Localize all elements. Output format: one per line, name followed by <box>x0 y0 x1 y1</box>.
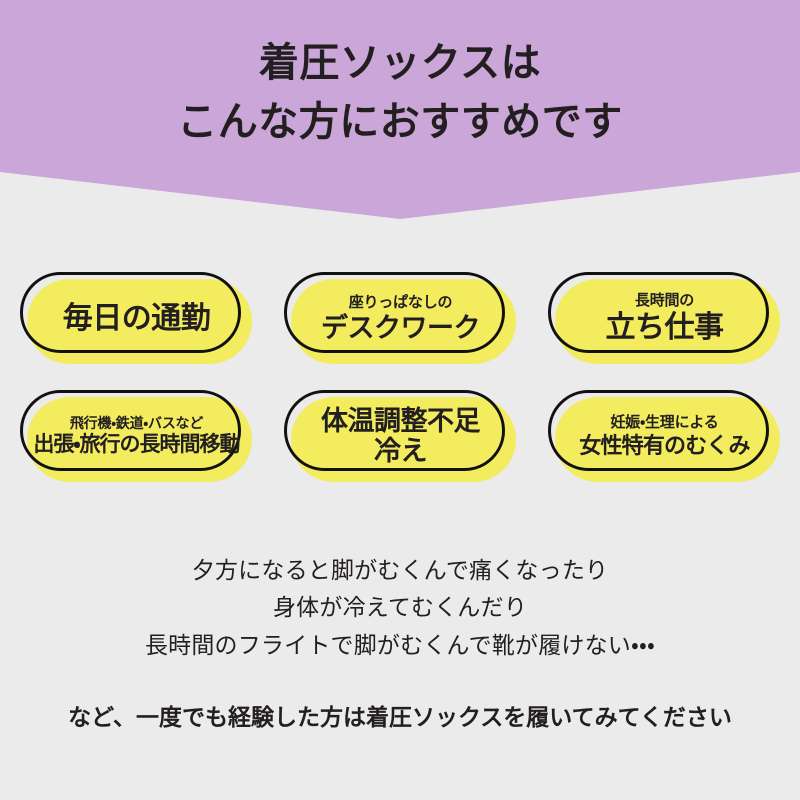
page-title: 着圧ソックスは こんな方におすすめです <box>0 34 800 152</box>
badge-desk-work: 座りっぱなしの デスクワーク <box>284 272 516 364</box>
badge-text: 座りっぱなしの デスクワーク <box>288 276 513 361</box>
badge-caption-label: 飛行機・鉄道・バスなど <box>70 416 203 431</box>
body-line-3: 長時間のフライトで脚がむくんで靴が履けない・・・ <box>0 627 800 664</box>
badge-main-label-top: 体温調整不足 <box>321 407 480 436</box>
badge-caption-label: 座りっぱなしの <box>349 295 453 311</box>
page-title-line-1: 着圧ソックスは <box>0 34 800 93</box>
badge-standing-work: 長時間の 立ち仕事 <box>548 272 780 364</box>
badge-text: 飛行機・鉄道・バスなど 出張・旅行の長時間移動 <box>24 394 249 479</box>
badge-text: 毎日の通勤 <box>24 276 249 361</box>
body-line-2: 身体が冷えてむくんだり <box>0 589 800 626</box>
badge-row-2: 飛行機・鉄道・バスなど 出張・旅行の長時間移動 体温調整不足 冷え 妊娠・生理に… <box>0 390 800 482</box>
badge-text: 長時間の 立ち仕事 <box>552 276 777 361</box>
badge-grid: 毎日の通勤 座りっぱなしの デスクワーク 長時間の 立ち仕事 飛行機・ <box>0 272 800 482</box>
closing-statement: など、一度でも経験した方は着圧ソックスを履いてみてください <box>0 698 800 732</box>
badge-main-label: 毎日の通勤 <box>63 303 211 335</box>
badge-long-distance-travel: 飛行機・鉄道・バスなど 出張・旅行の長時間移動 <box>20 390 252 482</box>
page-title-line-2: こんな方におすすめです <box>0 93 800 152</box>
badge-poor-temperature-regulation: 体温調整不足 冷え <box>284 390 516 482</box>
badge-main-label: 出張・旅行の長時間移動 <box>33 434 239 456</box>
badge-main-label-bottom: 冷え <box>374 437 427 466</box>
badge-text: 妊娠・生理による 女性特有のむくみ <box>552 394 777 479</box>
body-line-1: 夕方になると脚がむくんで痛くなったり <box>0 552 800 589</box>
badge-main-label: 女性特有のむくみ <box>579 434 749 457</box>
body-copy: 夕方になると脚がむくんで痛くなったり 身体が冷えてむくんだり 長時間のフライトで… <box>0 552 800 664</box>
badge-caption-label: 長時間の <box>635 293 694 309</box>
badge-daily-commute: 毎日の通勤 <box>20 272 252 364</box>
badge-row-1: 毎日の通勤 座りっぱなしの デスクワーク 長時間の 立ち仕事 <box>0 272 800 364</box>
badge-text: 体温調整不足 冷え <box>288 394 513 479</box>
badge-main-label: 立ち仕事 <box>606 312 724 344</box>
badge-caption-label: 妊娠・生理による <box>610 415 718 431</box>
badge-female-swelling: 妊娠・生理による 女性特有のむくみ <box>548 390 780 482</box>
badge-main-label: デスクワーク <box>321 314 480 343</box>
